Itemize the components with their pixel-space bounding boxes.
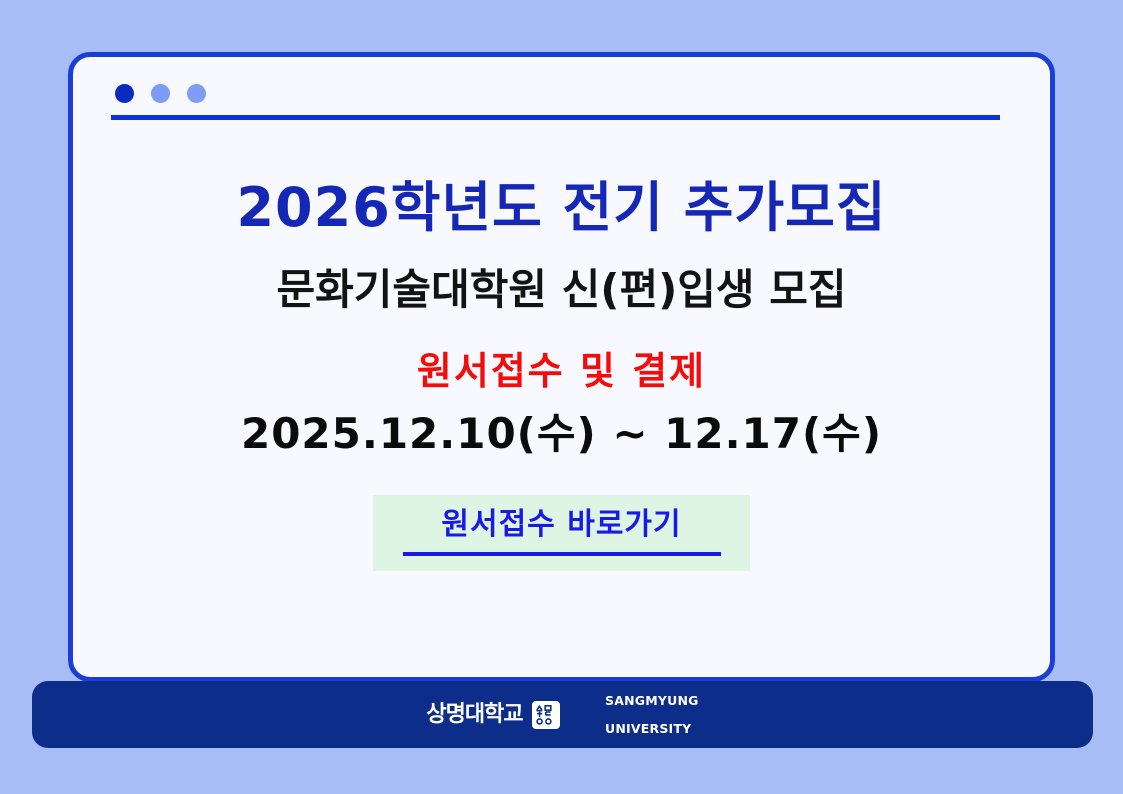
university-brand: 상명대학교 (426, 680, 698, 750)
poster-stage: 2026학년도 전기 추가모집 문화기술대학원 신(편)입생 모집 원서접수 및… (0, 0, 1123, 794)
window-dot-maximize-icon[interactable] (187, 84, 206, 103)
poster-content: 2026학년도 전기 추가모집 문화기술대학원 신(편)입생 모집 원서접수 및… (73, 153, 1050, 571)
brand-name-korean: 상명대학교 (426, 704, 522, 726)
application-date-range: 2025.12.10(수) ~ 12.17(수) (73, 395, 1050, 459)
sangmyung-logo-icon (532, 701, 560, 729)
window-dot-minimize-icon[interactable] (151, 84, 170, 103)
page-subtitle: 문화기술대학원 신(편)입생 모집 (73, 239, 1050, 315)
apply-now-label: 원서접수 바로가기 (441, 510, 681, 546)
apply-now-underline (403, 552, 721, 556)
brand-name-english: SANGMYUNG UNIVERSITY (569, 680, 699, 750)
announcement-card: 2026학년도 전기 추가모집 문화기술대학원 신(편)입생 모집 원서접수 및… (68, 52, 1055, 682)
brand-en-line2: UNIVERSITY (605, 721, 691, 736)
window-dot-close-icon[interactable] (115, 84, 134, 103)
brand-en-line1: SANGMYUNG (605, 693, 699, 708)
window-dots (115, 84, 206, 103)
header-divider (111, 115, 1000, 120)
apply-now-link[interactable]: 원서접수 바로가기 (373, 495, 750, 571)
page-title: 2026학년도 전기 추가모집 (73, 153, 1050, 239)
footer-bar: 상명대학교 (32, 681, 1093, 748)
cta-container: 원서접수 바로가기 (73, 495, 1050, 571)
application-heading: 원서접수 및 결제 (73, 315, 1050, 395)
